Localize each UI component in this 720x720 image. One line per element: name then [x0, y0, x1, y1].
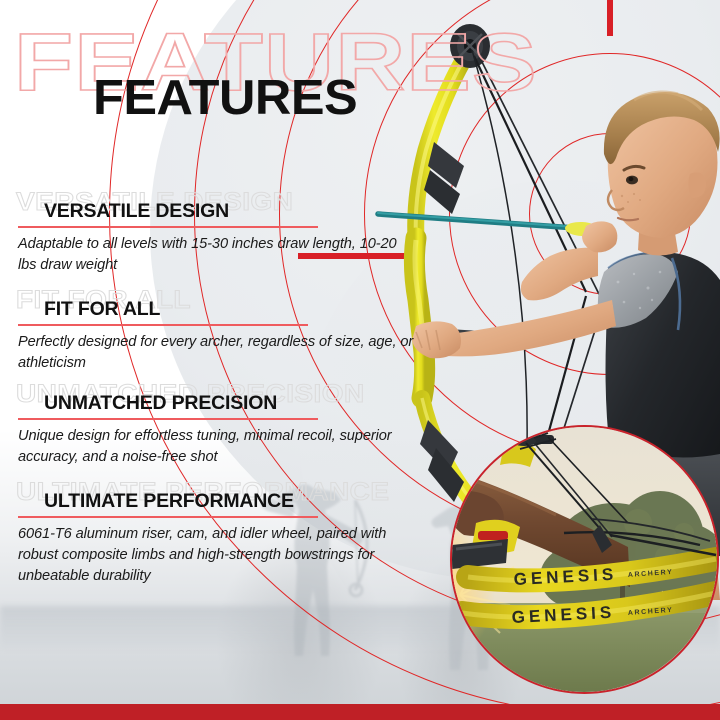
infographic-canvas: FEATURES FEATURES VERSATILE DESIGN VERSA…	[0, 0, 720, 720]
feature-title: UNMATCHED PRECISION	[44, 394, 277, 414]
feature-rule	[18, 418, 318, 420]
feature-title: ULTIMATE PERFORMANCE	[44, 492, 294, 512]
feature-title: FIT FOR ALL	[44, 300, 160, 320]
feature-rule	[18, 516, 318, 518]
page-title: FEATURES	[93, 74, 357, 123]
feature-body: Unique design for effortless tuning, min…	[18, 426, 418, 468]
inset-photo-bow-closeup: GENESIS ARCHERY GENESIS ARCHERY	[450, 425, 719, 694]
feature-title: VERSATILE DESIGN	[44, 202, 229, 222]
feature-body: Adaptable to all levels with 15-30 inche…	[18, 234, 418, 276]
feature-rule	[18, 226, 318, 228]
feature-body: 6061-T6 aluminum riser, cam, and idler w…	[18, 524, 418, 587]
feature-body: Perfectly designed for every archer, reg…	[18, 332, 418, 374]
bottom-accent-bar	[0, 704, 720, 720]
feature-rule	[18, 324, 308, 326]
